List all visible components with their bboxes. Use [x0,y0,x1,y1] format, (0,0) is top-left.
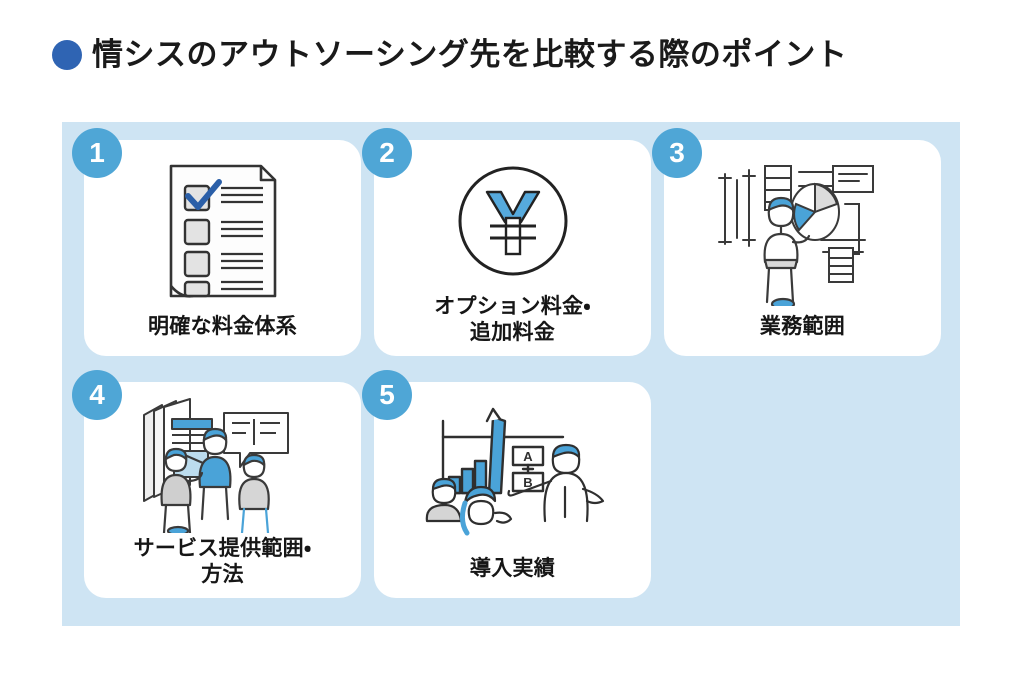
point-card-empty [664,382,941,598]
point-card-4[interactable]: 4 [84,382,361,598]
point-label-5: 導入実績 [460,556,565,598]
points-panel: 1 [62,122,960,626]
point-label-4: サービス提供範囲・ 方法 [124,536,322,599]
point-badge-3: 3 [652,128,702,178]
point-card-5[interactable]: 5 A B [374,382,651,598]
checklist-document-icon [84,140,361,314]
point-badge-4: 4 [72,370,122,420]
point-card-2[interactable]: 2 オプション料金・ 追加料金 [374,140,651,356]
point-label-1: 明確な料金体系 [138,314,307,356]
page-heading: 情シスのアウトソーシング先を比較する際のポイント [52,38,847,72]
point-label-2: オプション料金・ 追加料金 [424,294,601,357]
point-badge-1: 1 [72,128,122,178]
point-label-3: 業務範囲 [750,314,855,356]
point-card-1[interactable]: 1 [84,140,361,356]
point-card-3[interactable]: 3 [664,140,941,356]
filled-circle-icon [52,40,82,70]
svg-text:A: A [523,449,533,464]
point-badge-5: 5 [362,370,412,420]
bar-chart-presentation-icon: A B [374,382,651,556]
points-grid: 1 [84,140,938,598]
page-title: 情シスのアウトソーシング先を比較する際のポイント [92,38,847,72]
team-presentation-icon [84,382,361,536]
point-badge-2: 2 [362,128,412,178]
yen-coin-icon [374,140,651,294]
person-reviewing-charts-icon [664,140,941,314]
